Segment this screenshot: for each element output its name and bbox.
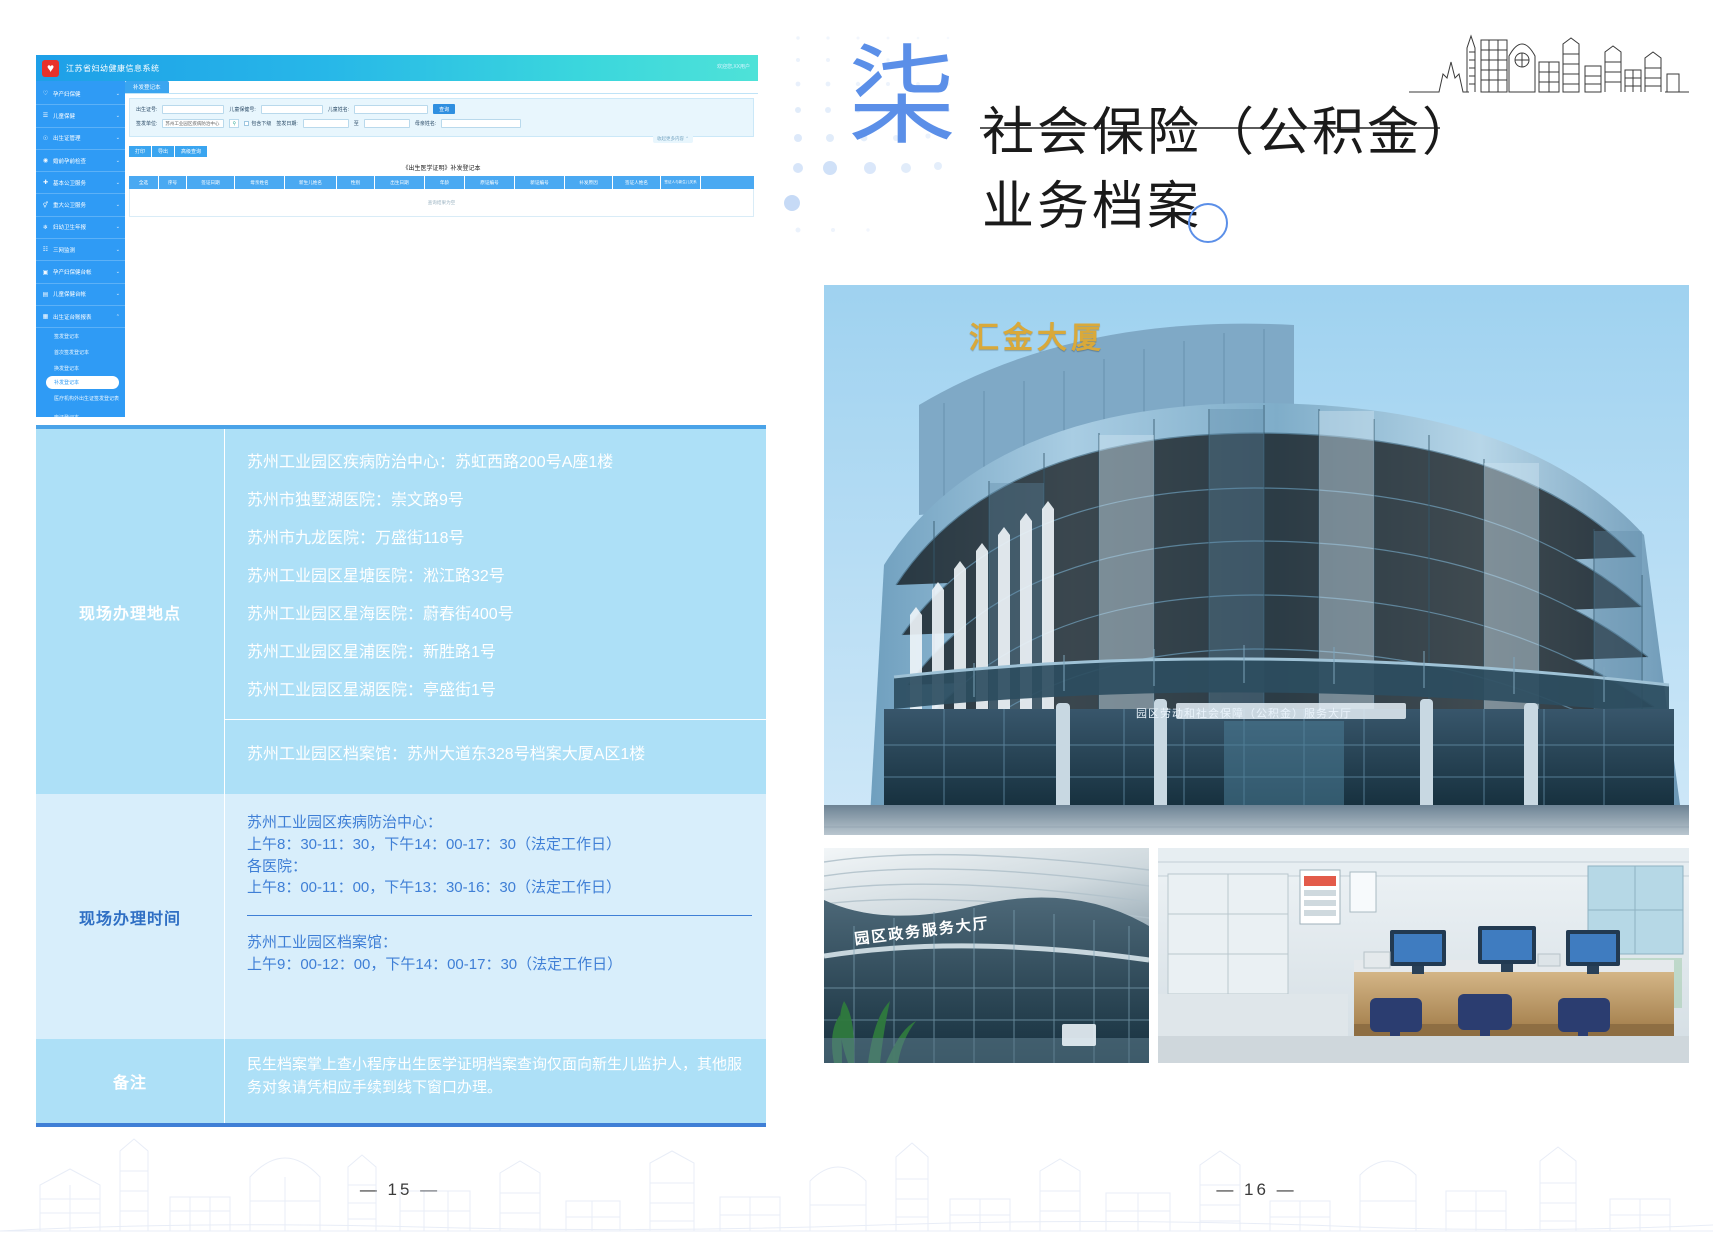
- time-block-archive: 苏州工业园区档案馆： 上午9：00-12：00，下午14：00-17：30（法定…: [225, 916, 766, 992]
- issue-date-label: 签发日期:: [276, 120, 297, 127]
- row-value-note: 民生档案掌上查小程序出生医学证明档案查询仅面向新生儿监护人，其他服务对象请凭相应…: [224, 1039, 766, 1123]
- date-range-separator: 至: [354, 120, 359, 127]
- mother-name-input[interactable]: [441, 119, 521, 128]
- chevron-down-icon: ⌄: [116, 291, 120, 297]
- advanced-search-button[interactable]: 高级查询: [175, 146, 208, 157]
- chapter-number: 柒: [848, 45, 956, 153]
- grid-title: 《出生医学证明》补发登记本: [125, 163, 758, 172]
- book-icon: ☰: [42, 112, 49, 119]
- heart-icon: ♡: [42, 90, 49, 97]
- flower-icon: ❄: [42, 224, 49, 231]
- sidebar-item-label: 三网监测: [53, 246, 112, 254]
- photo-huijin-building: 汇金大厦 园区劳动和社会保障（公积金）服务大厅: [824, 285, 1689, 835]
- include-sub-label: 包含下级: [251, 120, 271, 127]
- archive-address: 苏州工业园区档案馆：苏州大道东328号档案大厦A区1楼: [225, 720, 766, 784]
- ledger-icon: ▤: [42, 291, 49, 298]
- sidebar-item-label: 重大公卫服务: [53, 201, 112, 209]
- sidebar-item-annual-report[interactable]: ❄ 妇幼卫生年报 ⌄: [36, 217, 125, 239]
- chevron-down-icon: ⌄: [116, 247, 120, 253]
- child-health-no-label: 儿童保健号:: [229, 106, 255, 113]
- sidebar-sub-reissue-register[interactable]: 换发登记本: [36, 360, 125, 376]
- grid-header-age: 年龄: [425, 176, 465, 189]
- magnifier-icon[interactable]: ⚲: [229, 119, 239, 128]
- grid-header-issuer-name: 签证人姓名: [613, 176, 661, 189]
- child-health-no-input[interactable]: [261, 105, 323, 114]
- page-number-left: — 15 —: [0, 1180, 800, 1200]
- hall-exterior-illustration: [824, 848, 1149, 1063]
- photo-service-hall-exterior: 园区政务服务大厅: [824, 848, 1149, 1063]
- sidebar-item-maternal-ledger[interactable]: ▣ 孕产妇保健台帐 ⌄: [36, 261, 125, 283]
- table-row-locations: 现场办理地点 苏州工业园区疾病防治中心：苏虹西路200号A座1楼 苏州市独墅湖医…: [36, 429, 766, 794]
- target-icon: ◉: [42, 157, 49, 164]
- app-sidebar[interactable]: ♡ 孕产妇保健 ⌄ ☰ 儿童保健 ⌄ ☉ 出生证管理 ⌄ ◉ 婚前孕前检查: [36, 81, 125, 417]
- sidebar-item-child-ledger[interactable]: ▤ 儿童保健台帐 ⌄: [36, 284, 125, 306]
- tab-supplement-register[interactable]: 补发登记本: [125, 81, 169, 93]
- app-topbar: ♥ 江苏省妇幼健康信息系统 欢迎您,XX用户: [36, 55, 758, 81]
- grid-header-index: 序号: [159, 176, 187, 189]
- sidebar-item-label: 基本公卫服务: [53, 179, 112, 187]
- chapter-title-line-1: 社会保险（公积金）: [982, 97, 1702, 171]
- chevron-down-icon: ⌄: [116, 135, 120, 141]
- net-icon: ☷: [42, 246, 49, 253]
- grid-header-select-all[interactable]: 全选: [129, 176, 159, 189]
- grid-header-old-cert-no: 原证编号: [465, 176, 515, 189]
- issuing-unit-label: 签发单位:: [136, 120, 157, 127]
- app-title: 江苏省妇幼健康信息系统: [66, 63, 160, 74]
- export-button[interactable]: 导出: [152, 146, 175, 157]
- grid-header-issue-date: 签证日期: [187, 176, 235, 189]
- grid-header-issuer-relation: 签证人与新生儿关系: [661, 176, 701, 189]
- issuing-unit-input[interactable]: 苏州工业园区疾病防治中心: [162, 119, 224, 128]
- sidebar-item-three-net-monitor[interactable]: ☷ 三网监测 ⌄: [36, 239, 125, 261]
- report-icon: ▦: [42, 313, 49, 320]
- sidebar-item-maternal-health[interactable]: ♡ 孕产妇保健 ⌄: [36, 83, 125, 105]
- sidebar-item-premarital-exam[interactable]: ◉ 婚前孕前检查 ⌄: [36, 150, 125, 172]
- chevron-down-icon: ⌄: [116, 180, 120, 186]
- cross-icon: ✚: [42, 179, 49, 186]
- ledger-icon: ▣: [42, 269, 49, 276]
- time-line: 苏州工业园区档案馆：: [247, 932, 752, 954]
- grid-header-newborn-name: 新生儿姓名: [285, 176, 337, 189]
- sidebar-sub-label: 签发登记本: [54, 333, 79, 340]
- row-label-note: 备注: [36, 1039, 224, 1123]
- heart-shield-icon: ♥: [42, 60, 59, 77]
- chevron-down-icon: ⌄: [116, 269, 120, 275]
- sidebar-sub-label: 补发登记本: [54, 379, 79, 386]
- sidebar-sub-external-issue-table[interactable]: 医疗机构外出生证签发登记表: [36, 389, 125, 409]
- sidebar-item-label: 妇幼卫生年报: [53, 223, 112, 231]
- sidebar-item-label: 婚前孕前检查: [53, 157, 112, 165]
- grid-header-reissue-reason: 补发原因: [565, 176, 613, 189]
- building-sign-text: 汇金大厦: [969, 313, 1105, 357]
- action-button-row: 打印 导出 高级查询: [129, 146, 754, 157]
- sidebar-item-birth-cert-reports[interactable]: ▦ 出生证台账报表 ⌃: [36, 306, 125, 328]
- collapse-search-toggle[interactable]: 收起更多内容 ⌃: [653, 135, 693, 143]
- checkbox-box: [244, 121, 249, 126]
- sidebar-sub-label: 废证登记本: [54, 414, 79, 417]
- tab-bar: 补发登记本: [125, 81, 758, 94]
- sidebar-sub-label: 医疗机构外出生证签发登记表: [54, 396, 119, 402]
- counter-interior-illustration: [1158, 848, 1689, 1063]
- issue-date-from-input[interactable]: [303, 119, 349, 128]
- birth-cert-no-label: 出生证号:: [136, 106, 157, 113]
- right-page: 柒 社会保险（公积金） 业务档案: [800, 0, 1713, 1241]
- grid-header-birth-date: 出生日期: [375, 176, 425, 189]
- address-item: 苏州工业园区疾病防治中心：苏虹西路200号A座1楼: [247, 455, 752, 471]
- sidebar-sub-void-register[interactable]: 废证登记本: [36, 409, 125, 417]
- grid-header-new-cert-no: 新证编号: [515, 176, 565, 189]
- time-line: 各医院：: [247, 856, 752, 878]
- city-skyline-icon: [1409, 22, 1689, 94]
- decorative-circle: [1188, 203, 1228, 243]
- time-line: 上午8：30-11：30，下午14：00-17：30（法定工作日）: [247, 834, 752, 856]
- sidebar-item-label: 出生证管理: [53, 134, 112, 142]
- row-label-onsite-time: 现场办理时间: [36, 794, 224, 1039]
- issue-date-to-input[interactable]: [364, 119, 410, 128]
- row-label-onsite-location: 现场办理地点: [36, 429, 224, 794]
- grid-empty-message: 查询结果为空: [129, 189, 754, 217]
- address-list: 苏州工业园区疾病防治中心：苏虹西路200号A座1楼 苏州市独墅湖医院：崇文路9号…: [225, 429, 766, 719]
- sidebar-item-label: 儿童保健台帐: [53, 290, 112, 298]
- chevron-up-icon: ⌃: [685, 136, 689, 141]
- note-text: 民生档案掌上查小程序出生医学证明档案查询仅面向新生儿监护人，其他服务对象请凭相应…: [225, 1039, 766, 1114]
- chevron-down-icon: ⌄: [116, 202, 120, 208]
- sidebar-item-basic-public-health[interactable]: ✚ 基本公卫服务 ⌄: [36, 172, 125, 194]
- chevron-down-icon: ⌄: [116, 158, 120, 164]
- address-item: 苏州工业园区星塘医院：淞江路32号: [247, 569, 752, 585]
- address-item: 苏州市九龙医院：万盛街118号: [247, 531, 752, 547]
- photo-service-counter-interior: [1158, 848, 1689, 1063]
- address-item: 苏州工业园区星海医院：蔚春街400号: [247, 607, 752, 623]
- address-item: 苏州市独墅湖医院：崇文路9号: [247, 493, 752, 509]
- grid-header-gender: 性别: [337, 176, 375, 189]
- sidebar-item-major-public-health[interactable]: ⚥ 重大公卫服务 ⌄: [36, 194, 125, 216]
- door-sign-text: 园区劳动和社会保障（公积金）服务大厅: [1079, 705, 1409, 721]
- lock-icon: ☉: [42, 135, 49, 142]
- birth-cert-no-input[interactable]: [162, 105, 224, 114]
- bell-icon: ⚥: [42, 202, 49, 209]
- app-main-content: 补发登记本 出生证号: 儿童保健号: 儿童姓名: 查询 签发单位: 苏州工: [125, 81, 758, 417]
- page-number-right: — 16 —: [800, 1180, 1713, 1200]
- child-name-input[interactable]: [354, 105, 428, 114]
- chapter-title-line-2: 业务档案: [982, 171, 1702, 245]
- query-button[interactable]: 查询: [433, 104, 455, 114]
- sidebar-sub-supplement-register[interactable]: 补发登记本: [46, 376, 119, 389]
- chevron-down-icon: ⌄: [116, 113, 120, 119]
- sidebar-item-label: 孕产妇保健台帐: [53, 268, 112, 276]
- search-panel: 出生证号: 儿童保健号: 儿童姓名: 查询 签发单位: 苏州工业园区疾病防治中心…: [129, 98, 754, 137]
- sidebar-item-birth-cert-mgmt[interactable]: ☉ 出生证管理 ⌄: [36, 128, 125, 150]
- app-screenshot: ♥ 江苏省妇幼健康信息系统 欢迎您,XX用户 ♡ 孕产妇保健 ⌄ ☰ 儿童保健 …: [36, 55, 758, 417]
- address-item: 苏州工业园区星湖医院：亭盛街1号: [247, 683, 752, 699]
- chapter-title: 社会保险（公积金） 业务档案: [982, 97, 1702, 245]
- child-name-label: 儿童姓名:: [328, 106, 349, 113]
- chevron-down-icon: ⌄: [116, 224, 120, 230]
- time-block-hospitals: 苏州工业园区疾病防治中心： 上午8：30-11：30，下午14：00-17：30…: [225, 794, 766, 915]
- row-value-onsite-time: 苏州工业园区疾病防治中心： 上午8：30-11：30，下午14：00-17：30…: [224, 794, 766, 1039]
- time-line: 上午9：00-12：00，下午14：00-17：30（法定工作日）: [247, 954, 752, 976]
- sidebar-item-label: 孕产妇保健: [53, 90, 112, 98]
- address-item: 苏州工业园区星浦医院：新胜路1号: [247, 645, 752, 661]
- table-row-times: 现场办理时间 苏州工业园区疾病防治中心： 上午8：30-11：30，下午14：0…: [36, 794, 766, 1039]
- sidebar-sub-issue-register[interactable]: 签发登记本: [36, 328, 125, 344]
- sidebar-item-label: 出生证台账报表: [53, 313, 112, 321]
- app-user-bar: 欢迎您,XX用户: [717, 63, 750, 70]
- sidebar-item-label: 儿童保健: [53, 112, 112, 120]
- sidebar-sub-label: 首次签发登记本: [54, 349, 89, 356]
- building-illustration: [824, 285, 1689, 835]
- row-value-onsite-location: 苏州工业园区疾病防治中心：苏虹西路200号A座1楼 苏州市独墅湖医院：崇文路9号…: [224, 429, 766, 794]
- service-info-table: 现场办理地点 苏州工业园区疾病防治中心：苏虹西路200号A座1楼 苏州市独墅湖医…: [36, 425, 766, 1127]
- left-page: ♥ 江苏省妇幼健康信息系统 欢迎您,XX用户 ♡ 孕产妇保健 ⌄ ☰ 儿童保健 …: [0, 0, 800, 1241]
- sidebar-sub-first-issue-register[interactable]: 首次签发登记本: [36, 344, 125, 360]
- include-sub-checkbox[interactable]: 包含下级: [244, 120, 271, 127]
- sidebar-sub-label: 换发登记本: [54, 365, 79, 372]
- table-row-note: 备注 民生档案掌上查小程序出生医学证明档案查询仅面向新生儿监护人，其他服务对象请…: [36, 1039, 766, 1123]
- grid-header-mother-name: 母亲姓名: [235, 176, 285, 189]
- grid-header-row: 全选 序号 签证日期 母亲姓名 新生儿姓名 性别 出生日期 年龄 原证编号 新证…: [129, 176, 754, 189]
- chevron-up-icon: ⌃: [116, 314, 120, 320]
- sidebar-item-child-health[interactable]: ☰ 儿童保健 ⌄: [36, 105, 125, 127]
- print-button[interactable]: 打印: [129, 146, 152, 157]
- time-line: 上午8：00-11：00，下午13：30-16：30（法定工作日）: [247, 877, 752, 899]
- mother-name-label: 母亲姓名:: [415, 120, 436, 127]
- collapse-label: 收起更多内容: [657, 136, 684, 141]
- chevron-down-icon: ⌄: [116, 91, 120, 97]
- time-line: 苏州工业园区疾病防治中心：: [247, 812, 752, 834]
